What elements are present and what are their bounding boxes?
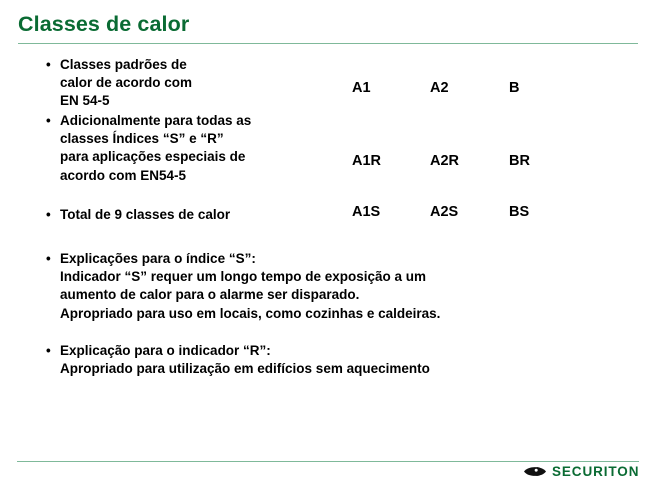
class-cell-b: B (509, 79, 519, 97)
class-cell-a1: A1 (352, 79, 371, 97)
list-item: • Adicionalmente para todas as classes Í… (0, 112, 655, 206)
slide: Classes de calor • Classes padrões de ca… (0, 0, 655, 491)
title-divider (18, 43, 638, 44)
footer-divider (17, 461, 639, 462)
list-item: • Explicações para o índice “S”: Indicad… (0, 250, 655, 342)
class-cell-a2r: A2R (430, 152, 459, 170)
securiton-logo: SECURITON (523, 464, 639, 479)
bullet-marker: • (46, 250, 60, 268)
bullet-marker: • (46, 206, 60, 224)
page-title: Classes de calor (18, 12, 189, 37)
list-item-text: Explicação para o indicador “R”: Apropri… (60, 342, 635, 378)
list-item: • Total de 9 classes de calor (0, 206, 655, 250)
list-item-text: Explicações para o índice “S”: Indicador… (60, 250, 635, 323)
bullet-list: • Classes padrões de calor de acordo com… (0, 56, 655, 386)
list-item-text: Total de 9 classes de calor (60, 206, 635, 224)
brand-name: SECURITON (552, 464, 639, 479)
bullet-marker: • (46, 56, 60, 74)
class-cell-bs: BS (509, 203, 529, 221)
class-cell-a2: A2 (430, 79, 449, 97)
class-cell-br: BR (509, 152, 530, 170)
class-cell-a2s: A2S (430, 203, 458, 221)
bullet-marker: • (46, 342, 60, 360)
class-cell-a1s: A1S (352, 203, 380, 221)
list-item: • Classes padrões de calor de acordo com… (0, 56, 655, 112)
eye-icon (523, 465, 547, 478)
bullet-marker: • (46, 112, 60, 130)
list-item-text: Adicionalmente para todas as classes Índ… (60, 112, 350, 185)
list-item: • Explicação para o indicador “R”: Aprop… (0, 342, 655, 386)
class-cell-a1r: A1R (352, 152, 381, 170)
list-item-text: Classes padrões de calor de acordo com E… (60, 56, 350, 111)
